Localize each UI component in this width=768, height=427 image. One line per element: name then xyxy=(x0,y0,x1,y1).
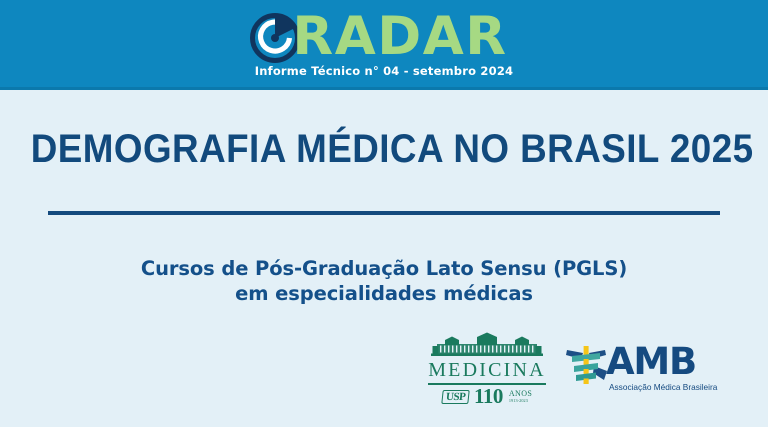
page-subtitle: Cursos de Pós-Graduação Lato Sensu (PGLS… xyxy=(0,256,768,306)
usp-badge: USP xyxy=(441,390,470,404)
usp-medicina-logo: MEDICINA USP 110 ANOS 1913-2023 xyxy=(424,332,550,407)
page-subtitle-line-1: Cursos de Pós-Graduação Lato Sensu (PGLS… xyxy=(0,256,768,281)
page-subtitle-line-2: em especialidades médicas xyxy=(0,281,768,306)
brand-wordmark: RADAR xyxy=(292,10,507,63)
amb-tagline: Associação Médica Brasileira xyxy=(609,382,717,392)
header-band: RADAR Informe Técnico n° 04 - setembro 2… xyxy=(0,0,768,90)
title-divider xyxy=(48,211,720,215)
header-subtitle: Informe Técnico n° 04 - setembro 2024 xyxy=(0,64,768,78)
report-cover-page: RADAR Informe Técnico n° 04 - setembro 2… xyxy=(0,0,768,427)
usp-anniversary-label-group: ANOS 1913-2023 xyxy=(509,390,532,403)
usp-anniversary-label: ANOS xyxy=(509,390,532,398)
page-title: DEMOGRAFIA MÉDICA NO BRASIL 2025 xyxy=(31,127,738,172)
logo-row: MEDICINA USP 110 ANOS 1913-2023 xyxy=(412,330,732,408)
usp-anniversary-years: 1913-2023 xyxy=(509,399,532,403)
header-band-edge xyxy=(0,87,768,90)
usp-building-icon xyxy=(424,332,550,361)
amb-logo: AMB Associação Médica Brasileira xyxy=(564,342,732,400)
amb-wordmark: AMB xyxy=(606,343,696,380)
brand-row: RADAR xyxy=(0,6,768,64)
usp-wordmark: MEDICINA xyxy=(424,360,550,381)
amb-caduceus-icon xyxy=(564,342,608,391)
usp-anniversary-block: USP 110 ANOS 1913-2023 xyxy=(424,387,550,407)
usp-anniversary-number: 110 xyxy=(474,387,503,406)
